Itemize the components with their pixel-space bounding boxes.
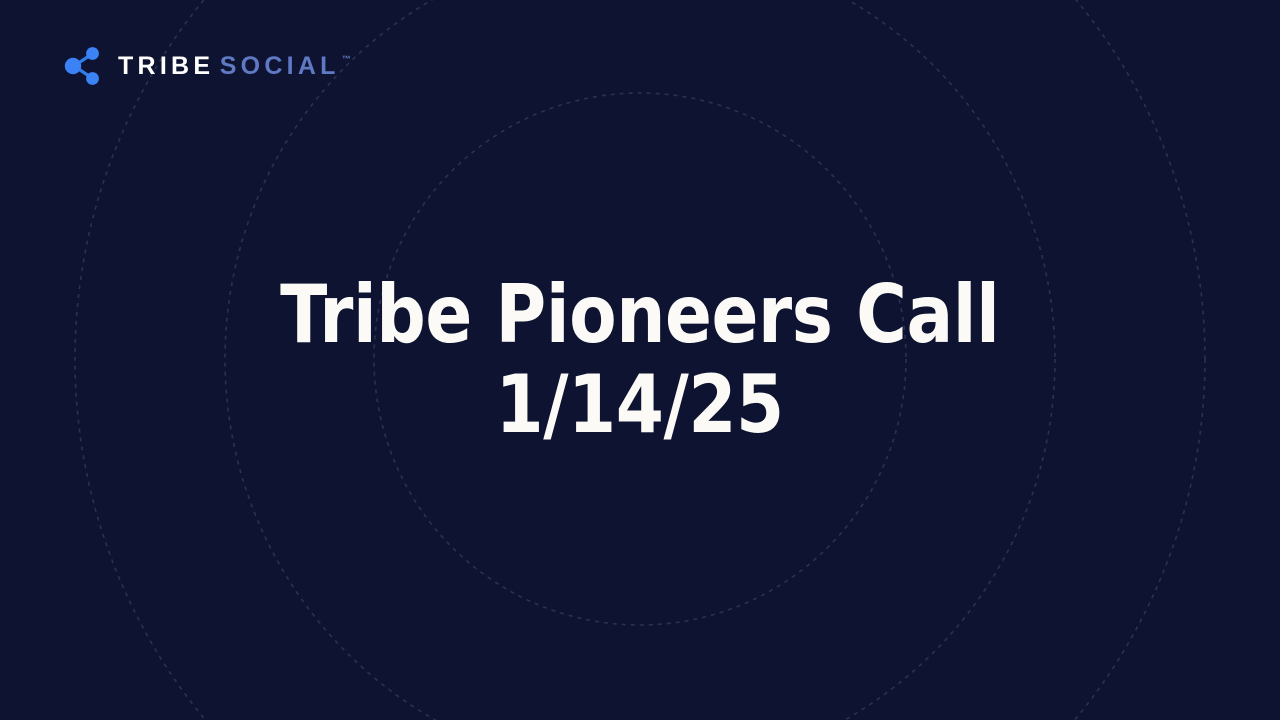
page-title: Tribe Pioneers Call bbox=[280, 270, 999, 360]
slide-date: 1/14/25 bbox=[496, 360, 784, 450]
presentation-slide: TRIBE SOCIAL ™ Tribe Pioneers Call 1/14/… bbox=[0, 0, 1280, 720]
slide-title-block: Tribe Pioneers Call 1/14/25 bbox=[0, 0, 1280, 720]
